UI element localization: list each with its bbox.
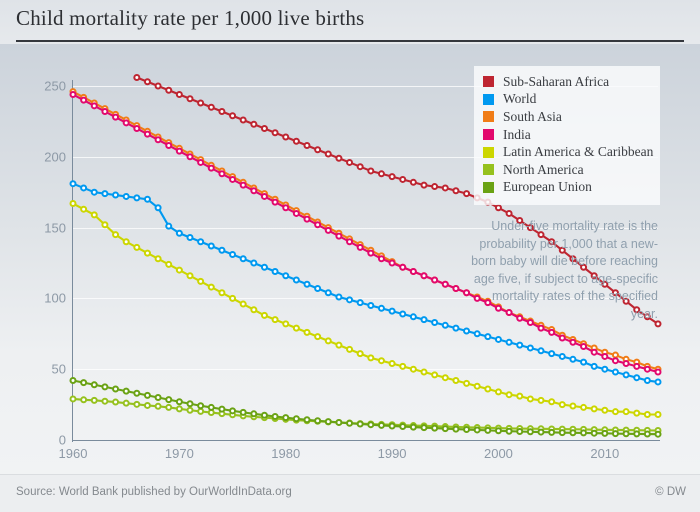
legend: Sub-Saharan AfricaWorldSouth AsiaIndiaLa…	[474, 66, 660, 205]
legend-swatch-icon	[483, 129, 494, 140]
legend-swatch-icon	[483, 182, 494, 193]
footer-bar: Source: World Bank published by OurWorld…	[0, 474, 700, 512]
legend-item[interactable]: Sub-Saharan Africa	[483, 73, 652, 91]
legend-swatch-icon	[483, 147, 494, 158]
legend-item[interactable]: India	[483, 126, 652, 144]
legend-swatch-icon	[483, 111, 494, 122]
definition-note: Under-five mortality rate is the probabi…	[470, 218, 658, 323]
legend-item[interactable]: South Asia	[483, 108, 652, 126]
legend-swatch-icon	[483, 94, 494, 105]
series-north-america	[71, 396, 661, 433]
legend-item-label: Sub-Saharan Africa	[503, 74, 609, 90]
legend-item-label: South Asia	[503, 109, 562, 125]
copyright-label: © DW	[655, 486, 686, 498]
legend-item-label: European Union	[503, 179, 592, 195]
source-credit: Source: World Bank published by OurWorld…	[16, 486, 292, 498]
legend-item-label: India	[503, 127, 531, 143]
legend-item[interactable]: North America	[483, 161, 652, 179]
legend-item-label: Latin America & Caribbean	[503, 144, 653, 160]
legend-item[interactable]: World	[483, 91, 652, 109]
legend-item-label: North America	[503, 162, 584, 178]
legend-swatch-icon	[483, 164, 494, 175]
legend-item[interactable]: Latin America & Caribbean	[483, 143, 652, 161]
legend-item-label: World	[503, 91, 536, 107]
legend-item[interactable]: European Union	[483, 179, 652, 197]
legend-swatch-icon	[483, 76, 494, 87]
chart-page: Child mortality rate per 1,000 live birt…	[0, 0, 700, 511]
